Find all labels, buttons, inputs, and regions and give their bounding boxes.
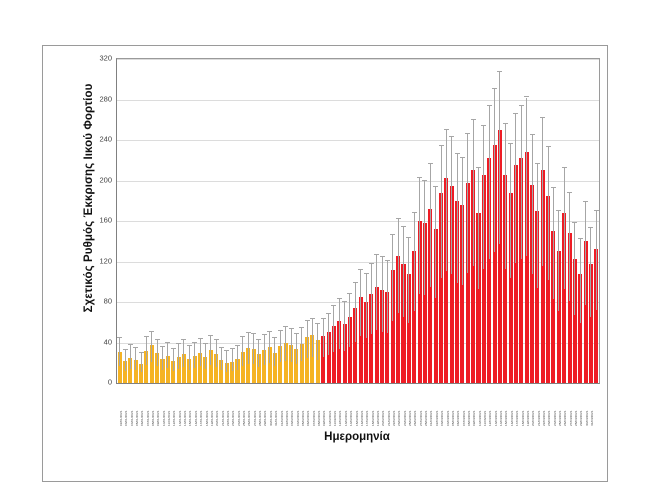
x-tick-label: 16/02/2021 [361, 411, 364, 426]
x-axis-title: Ημερομηνία [116, 431, 598, 443]
error-bar-line [371, 264, 372, 334]
x-tick-label: 06/02/2021 [307, 411, 310, 426]
error-bar-line [596, 211, 597, 310]
error-bar-line [162, 347, 163, 370]
x-tick-label: 11/01/2021 [168, 411, 171, 426]
error-bar-line [532, 135, 533, 274]
x-tick-label: 17/02/2021 [366, 411, 369, 426]
error-bar-line [242, 337, 243, 365]
x-tick-label: 21/01/2021 [222, 411, 225, 426]
x-tick-label: 19/02/2021 [377, 411, 380, 426]
x-tick-label: 27/02/2021 [420, 411, 423, 426]
x-tick-label: 17/03/2021 [516, 411, 519, 426]
x-tick-label: 30/03/2021 [586, 411, 589, 426]
x-tick-label: 31/03/2021 [591, 411, 594, 426]
error-bar-line [307, 321, 308, 358]
x-tick-label: 28/01/2021 [259, 411, 262, 426]
error-bar-line [387, 261, 388, 333]
error-bar-line [499, 72, 500, 244]
x-tick-label: 05/03/2021 [452, 411, 455, 426]
y-tick-label: 200 [82, 175, 112, 184]
x-tick-label: 16/01/2021 [195, 411, 198, 426]
error-bar-line [451, 137, 452, 274]
x-tick-label: 29/01/2021 [264, 411, 267, 426]
x-tick-label: 11/03/2021 [484, 411, 487, 426]
y-tick-label: 40 [82, 337, 112, 346]
x-tick-label: 18/02/2021 [372, 411, 375, 426]
x-tick-label: 03/03/2021 [441, 411, 444, 426]
x-tick-label: 04/02/2021 [297, 411, 300, 426]
y-tick-label: 0 [82, 378, 112, 387]
error-bar-line [478, 168, 479, 289]
error-bar-line [446, 130, 447, 271]
error-bar-line [221, 348, 222, 371]
error-bar-line [178, 344, 179, 369]
y-tick-label: 280 [82, 94, 112, 103]
error-bar-line [226, 351, 227, 372]
error-bar-line [167, 343, 168, 368]
x-tick-label: 25/03/2021 [559, 411, 562, 426]
error-bar-line [189, 346, 190, 370]
error-bar-line [237, 346, 238, 370]
x-tick-label: 06/01/2021 [141, 411, 144, 426]
error-bar-line [312, 319, 313, 357]
x-tick-label: 20/01/2021 [216, 411, 219, 426]
x-tick-label: 23/01/2021 [232, 411, 235, 426]
x-tick-label: 13/03/2021 [495, 411, 498, 426]
error-bar-line [328, 314, 329, 355]
error-bar-line [382, 257, 383, 331]
y-axis-tick-labels: 04080120160200240280320 [78, 58, 112, 382]
y-tick-label: 120 [82, 256, 112, 265]
error-bar-line [590, 228, 591, 317]
x-tick-label: 14/03/2021 [500, 411, 503, 426]
y-tick-label: 320 [82, 54, 112, 63]
error-bar-line [424, 181, 425, 296]
error-bar-line [232, 349, 233, 372]
x-tick-label: 22/02/2021 [393, 411, 396, 426]
chart-frame: Σχετικός Ρυθμός Έκκρισης Ιικού Φορτίου 0… [42, 45, 608, 482]
error-bar-line [403, 227, 404, 317]
error-bar-line [483, 126, 484, 269]
x-tick-label: 22/03/2021 [543, 411, 546, 426]
error-bar-line [339, 299, 340, 349]
error-bar-line [489, 106, 490, 260]
x-tick-label: 27/03/2021 [570, 411, 573, 426]
x-tick-label: 10/01/2021 [163, 411, 166, 426]
error-bar-line [505, 124, 506, 269]
error-bar-line [323, 319, 324, 357]
error-bar-line [349, 294, 350, 347]
bar-series [117, 59, 599, 383]
x-tick-label: 07/02/2021 [313, 411, 316, 426]
error-bar-line [291, 329, 292, 362]
x-tick-label: 07/01/2021 [147, 411, 150, 426]
x-tick-label: 01/03/2021 [430, 411, 433, 426]
x-tick-label: 02/01/2021 [120, 411, 123, 426]
x-tick-label: 13/01/2021 [179, 411, 182, 426]
x-tick-label: 26/02/2021 [414, 411, 417, 426]
error-bar-line [441, 146, 442, 278]
error-bar-line [408, 238, 409, 323]
error-bar-line [360, 270, 361, 336]
error-bar-line [269, 332, 270, 363]
error-bar-line [585, 202, 586, 305]
x-tick-label: 13/02/2021 [345, 411, 348, 426]
error-bar-line [141, 353, 142, 373]
x-tick-label: 12/02/2021 [339, 411, 342, 426]
y-tick-label: 160 [82, 216, 112, 225]
x-tick-label: 21/03/2021 [538, 411, 541, 426]
error-bar-cap [594, 210, 599, 211]
x-tick-label: 06/03/2021 [457, 411, 460, 426]
x-tick-label: 03/02/2021 [291, 411, 294, 426]
error-bar-line [135, 348, 136, 371]
error-bar-line [542, 118, 543, 266]
error-bar-line [253, 334, 254, 364]
x-tick-label: 01/02/2021 [281, 411, 284, 426]
x-tick-label: 05/02/2021 [302, 411, 305, 426]
error-bar-line [564, 168, 565, 289]
x-tick-label: 10/03/2021 [479, 411, 482, 426]
error-bar-line [119, 338, 120, 365]
x-tick-label: 28/03/2021 [575, 411, 578, 426]
error-bar-line [344, 302, 345, 351]
plot-area [116, 58, 600, 384]
x-tick-label: 12/03/2021 [489, 411, 492, 426]
x-tick-label: 08/01/2021 [152, 411, 155, 426]
x-tick-label: 25/01/2021 [243, 411, 246, 426]
x-tick-label: 30/01/2021 [270, 411, 273, 426]
x-tick-label: 16/03/2021 [511, 411, 514, 426]
x-tick-label: 19/01/2021 [211, 411, 214, 426]
error-bar-line [558, 211, 559, 311]
error-bar-line [515, 114, 516, 264]
error-bar-line [183, 340, 184, 366]
error-bar-line [296, 334, 297, 364]
x-tick-label: 04/01/2021 [131, 411, 134, 426]
error-bar-line [248, 333, 249, 363]
x-tick-label: 09/02/2021 [323, 411, 326, 426]
error-bar-line [264, 335, 265, 364]
error-bar-line [376, 255, 377, 330]
error-bar-line [462, 158, 463, 285]
x-tick-label: 29/03/2021 [580, 411, 583, 426]
error-bar-line [569, 193, 570, 301]
x-tick-label: 14/02/2021 [350, 411, 353, 426]
x-tick-label: 15/01/2021 [189, 411, 192, 426]
x-tick-label: 05/01/2021 [136, 411, 139, 426]
error-bar-line [146, 337, 147, 365]
x-tick-label: 31/01/2021 [275, 411, 278, 426]
x-tick-label: 20/03/2021 [532, 411, 535, 426]
x-axis-tick-labels: 02/01/202103/01/202104/01/202105/01/2021… [116, 384, 598, 428]
x-tick-label: 08/02/2021 [318, 411, 321, 426]
x-tick-label: 02/02/2021 [286, 411, 289, 426]
x-tick-label: 07/03/2021 [463, 411, 466, 426]
x-tick-label: 26/01/2021 [248, 411, 251, 426]
error-bar-line [173, 349, 174, 371]
x-tick-label: 22/01/2021 [227, 411, 230, 426]
error-bar-line [548, 147, 549, 280]
error-bar-line [398, 219, 399, 313]
error-bar-line [366, 274, 367, 339]
error-bar-line [258, 340, 259, 366]
x-tick-label: 26/03/2021 [564, 411, 567, 426]
error-bar-line [580, 239, 581, 323]
x-tick-label: 09/01/2021 [157, 411, 160, 426]
error-bar-line [537, 164, 538, 288]
error-bar-line [355, 283, 356, 342]
x-tick-label: 08/03/2021 [468, 411, 471, 426]
error-bar-line [301, 328, 302, 361]
error-bar-line [392, 235, 393, 320]
x-tick-label: 20/02/2021 [382, 411, 385, 426]
x-tick-label: 28/02/2021 [425, 411, 428, 426]
x-tick-label: 09/03/2021 [473, 411, 476, 426]
error-bar-line [510, 144, 511, 278]
error-bar-line [574, 223, 575, 315]
x-tick-label: 14/01/2021 [184, 411, 187, 426]
x-tick-label: 24/01/2021 [238, 411, 241, 426]
x-tick-label: 25/02/2021 [409, 411, 412, 426]
error-bar-line [419, 178, 420, 293]
error-bar-line [216, 340, 217, 366]
error-bar-line [274, 338, 275, 366]
x-tick-label: 23/02/2021 [398, 411, 401, 426]
x-tick-label: 03/01/2021 [125, 411, 128, 426]
x-tick-label: 19/03/2021 [527, 411, 530, 426]
error-bar-line [205, 344, 206, 369]
error-bar-line [430, 164, 431, 287]
error-bar-line [414, 213, 415, 311]
error-bar-line [333, 306, 334, 352]
error-bar-line [194, 343, 195, 368]
bar-slot [594, 59, 599, 383]
x-tick-label: 17/01/2021 [200, 411, 203, 426]
x-tick-label: 24/02/2021 [404, 411, 407, 426]
error-bar-line [125, 350, 126, 371]
x-tick-label: 02/03/2021 [436, 411, 439, 426]
error-bar-line [494, 89, 495, 252]
y-tick-label: 80 [82, 297, 112, 306]
x-tick-label: 15/02/2021 [356, 411, 359, 426]
error-bar-line [467, 134, 468, 273]
error-bar-line [473, 120, 474, 266]
error-bar-line [151, 332, 152, 361]
error-bar-line [280, 331, 281, 362]
x-tick-label: 04/03/2021 [447, 411, 450, 426]
error-bar-line [553, 188, 554, 300]
x-tick-label: 12/01/2021 [173, 411, 176, 426]
x-tick-label: 18/03/2021 [522, 411, 525, 426]
error-bar-line [130, 345, 131, 370]
error-bar-line [210, 336, 211, 364]
x-tick-label: 24/03/2021 [554, 411, 557, 426]
x-tick-label: 23/03/2021 [548, 411, 551, 426]
x-tick-label: 18/01/2021 [206, 411, 209, 426]
error-bar-line [317, 324, 318, 359]
error-bar-line [526, 98, 527, 257]
x-tick-label: 21/02/2021 [388, 411, 391, 426]
error-bar-line [435, 187, 436, 299]
x-tick-label: 10/02/2021 [329, 411, 332, 426]
y-tick-label: 240 [82, 135, 112, 144]
error-bar-line [285, 327, 286, 360]
error-bar-line [521, 106, 522, 260]
x-tick-label: 11/02/2021 [334, 411, 337, 426]
x-tick-label: 15/03/2021 [505, 411, 508, 426]
x-tick-label: 27/01/2021 [254, 411, 257, 426]
error-bar-line [157, 340, 158, 366]
error-bar-line [200, 339, 201, 366]
error-bar-line [457, 154, 458, 283]
